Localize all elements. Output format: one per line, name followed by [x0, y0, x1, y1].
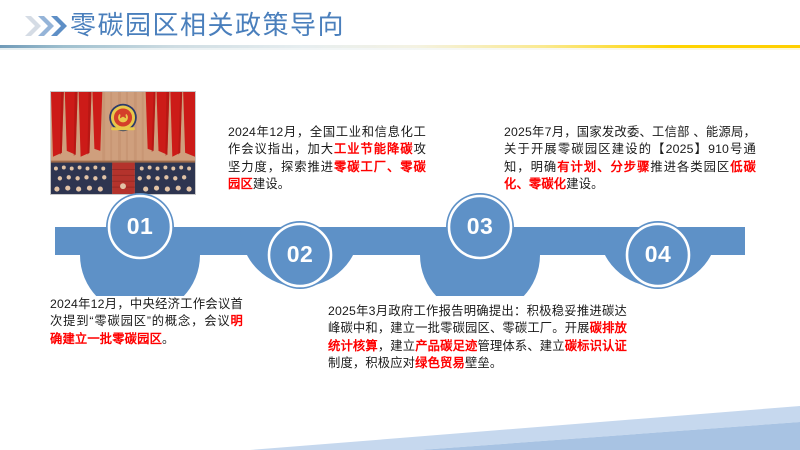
- timeline-node-04-number[interactable]: 04: [630, 241, 686, 268]
- policy-text-block-03: 2025年7月，国家发改委、工信部 、能源局，关于开展零碳园区建设的【2025】…: [504, 124, 756, 194]
- timeline-node-01-number[interactable]: 01: [112, 213, 168, 240]
- timeline-node-03-number[interactable]: 03: [452, 213, 508, 240]
- header-divider-shadow: [0, 48, 800, 50]
- policy-text-block-01: 2024年12月，中央经济工作会议首次提到“零碳园区”的概念，会议明确建立一批零…: [50, 296, 243, 348]
- double-chevron-right-icon: [24, 14, 70, 38]
- slide-header: 零碳园区相关政策导向: [0, 0, 800, 52]
- bottom-diagonal-decoration: [0, 378, 800, 450]
- policy-text-block-02: 2024年12月，全国工业和信息化工作会议指出，加大工业节能降碳攻坚力度，探索推…: [228, 124, 426, 194]
- timeline-node-02-number[interactable]: 02: [272, 241, 328, 268]
- slide-canvas: 零碳园区相关政策导向: [0, 0, 800, 450]
- timeline-graphic: 01 02 03 04: [0, 186, 800, 296]
- page-title: 零碳园区相关政策导向: [70, 6, 345, 44]
- conference-hall-photo: [50, 91, 196, 195]
- policy-text-block-04: 2025年3月政府工作报告明确提出：积极稳妥推进碳达峰碳中和，建立一批零碳园区、…: [328, 303, 627, 373]
